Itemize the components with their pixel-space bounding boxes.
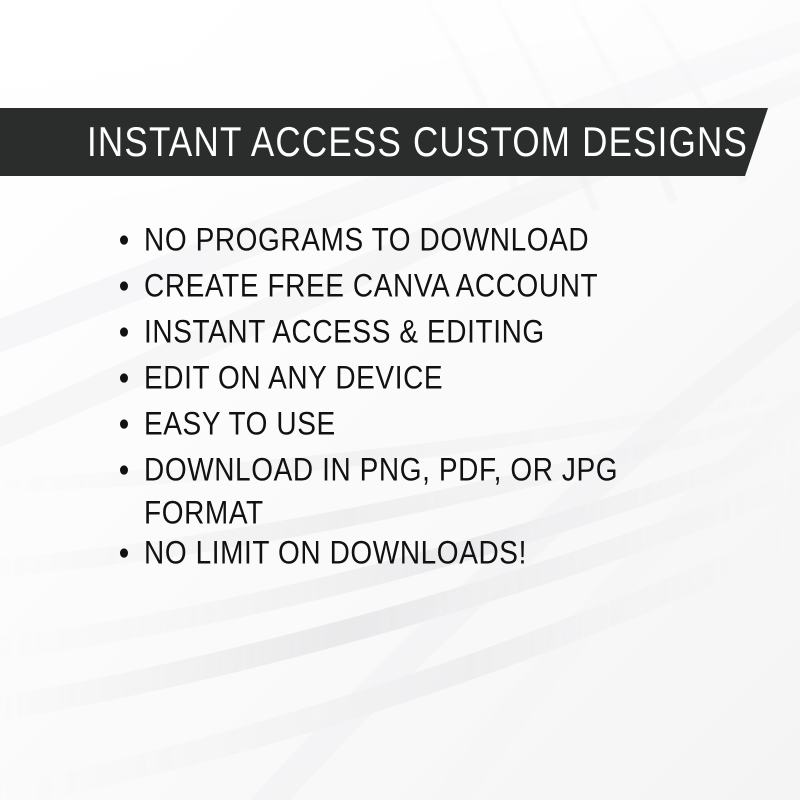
list-item: NO PROGRAMS TO DOWNLOAD [118, 218, 718, 261]
list-item: EDIT ON ANY DEVICE [118, 356, 718, 399]
list-item: EASY TO USE [118, 402, 718, 445]
bullet-dot-icon [120, 327, 128, 336]
bullet-dot-icon [120, 373, 128, 382]
list-item: CREATE FREE CANVA ACCOUNT [118, 264, 718, 307]
list-item: INSTANT ACCESS & EDITING [118, 310, 718, 353]
list-item-label: NO LIMIT ON DOWNLOADS! [144, 531, 718, 574]
list-item: DOWNLOAD IN PNG, PDF, OR JPG FORMAT [118, 448, 644, 534]
list-item-label: EASY TO USE [144, 402, 718, 445]
list-item-label: DOWNLOAD IN PNG, PDF, OR JPG FORMAT [144, 448, 644, 534]
banner-title: INSTANT ACCESS CUSTOM DESIGNS [87, 121, 748, 162]
bullet-dot-icon [120, 465, 128, 474]
feature-list: NO PROGRAMS TO DOWNLOAD CREATE FREE CANV… [118, 218, 718, 577]
list-item-label: NO PROGRAMS TO DOWNLOAD [144, 218, 718, 261]
bullet-dot-icon [120, 419, 128, 428]
headline-banner: INSTANT ACCESS CUSTOM DESIGNS [0, 108, 770, 176]
list-item-label: CREATE FREE CANVA ACCOUNT [144, 264, 718, 307]
bullet-dot-icon [120, 281, 128, 290]
bullet-dot-icon [120, 235, 128, 244]
promo-poster: INSTANT ACCESS CUSTOM DESIGNS NO PROGRAM… [0, 0, 800, 800]
list-item-label: INSTANT ACCESS & EDITING [144, 310, 718, 353]
bullet-dot-icon [120, 548, 128, 557]
list-item-label: EDIT ON ANY DEVICE [144, 356, 718, 399]
list-item: NO LIMIT ON DOWNLOADS! [118, 531, 718, 574]
